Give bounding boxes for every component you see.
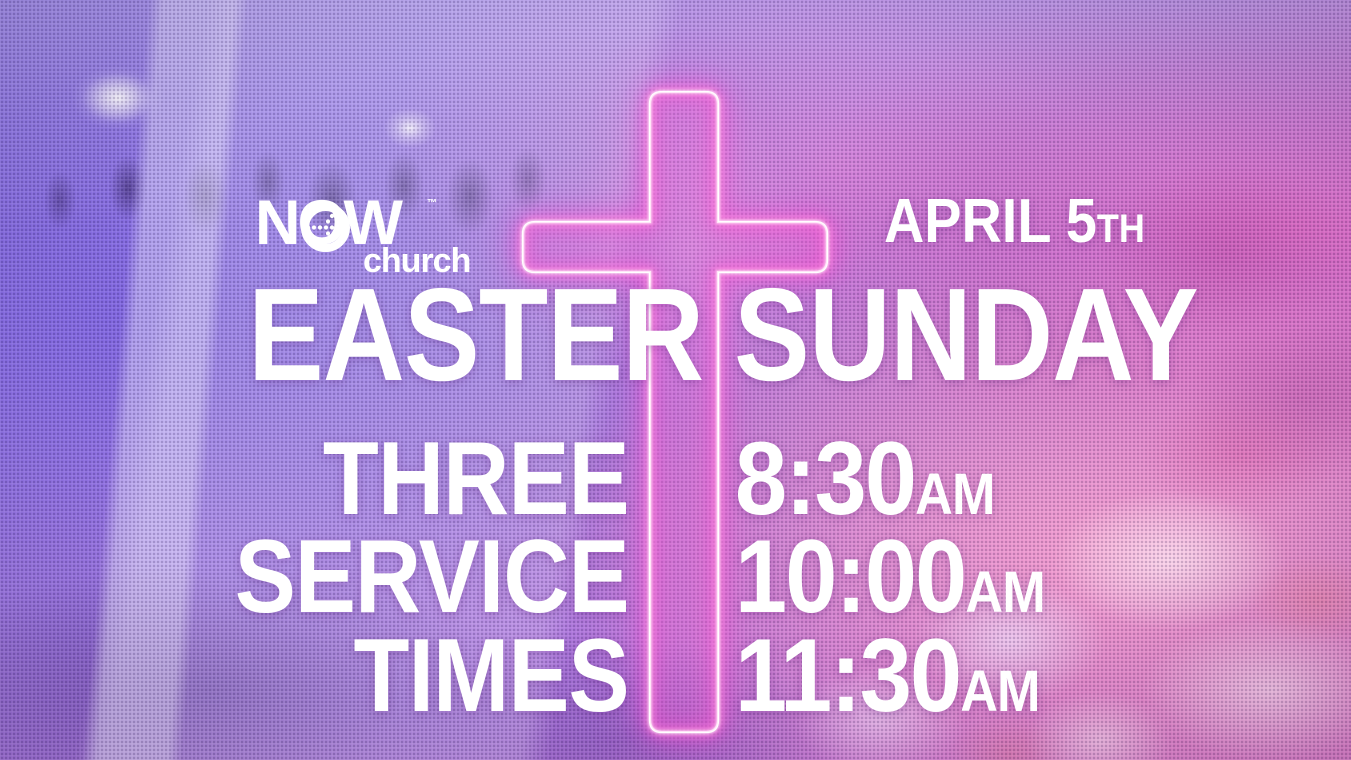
service-times-label-stack: THREE SERVICE TIMES xyxy=(181,430,629,725)
event-date-main: APRIL 5 xyxy=(884,187,1097,256)
service-time-1-meridiem: AM xyxy=(915,462,994,527)
service-time-1: 8:30AM xyxy=(735,430,1045,528)
headline-sunday: SUNDAY xyxy=(734,280,1198,391)
stack-line-three: THREE xyxy=(235,430,629,528)
service-time-3: 11:30AM xyxy=(735,627,1045,725)
event-date-suffix: TH xyxy=(1097,207,1145,251)
dotted-arrow-icon xyxy=(301,203,350,252)
service-time-3-value: 11:30 xyxy=(735,618,960,734)
event-date: APRIL 5TH xyxy=(884,196,1145,248)
stack-line-times: TIMES xyxy=(235,627,629,725)
easter-service-poster: NOW ™ church APRIL 5TH EASTER SUNDAY THR… xyxy=(0,0,1351,760)
service-time-2-meridiem: AM xyxy=(965,560,1044,625)
trademark-symbol: ™ xyxy=(427,198,437,209)
service-time-2: 10:00AM xyxy=(735,528,1045,626)
headline-easter: EASTER xyxy=(248,280,703,391)
service-time-3-meridiem: AM xyxy=(960,659,1039,724)
logo-subword: church xyxy=(363,244,470,278)
stack-line-service: SERVICE xyxy=(235,528,629,626)
now-church-logo: NOW ™ church xyxy=(255,196,470,278)
service-times-list: 8:30AM 10:00AM 11:30AM xyxy=(735,430,1079,725)
